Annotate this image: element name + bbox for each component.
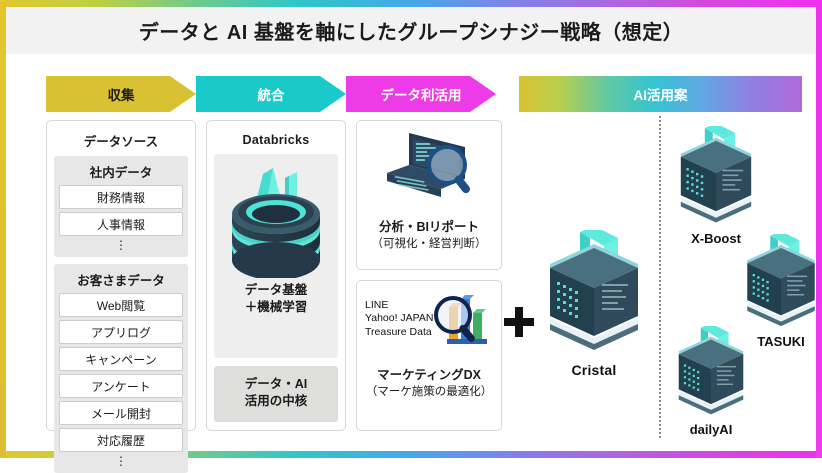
marketing-dx-brands: LINE Yahoo! JAPAN Treasure Data [365, 299, 433, 339]
list-item[interactable]: キャンペーン [59, 347, 183, 371]
cristal-cube-wrap [534, 230, 654, 360]
databricks-caption: データ基盤 ＋機械学習 [245, 282, 308, 316]
data-source-panel: データソース 社内データ 財務情報 人事情報 ⋮ お客さまデータ Web閲覧 ア… [46, 120, 196, 431]
process-step-collect[interactable]: 収集 [46, 76, 196, 112]
ai-cube-icon [667, 326, 755, 422]
process-step-collect-label: 収集 [108, 84, 135, 104]
laptop-magnifier-icon [369, 127, 489, 219]
ai-database-cylinder-icon [223, 160, 329, 278]
top-gradient-border [0, 0, 822, 7]
marketing-dx-top: LINE Yahoo! JAPAN Treasure Data [357, 287, 501, 367]
ai-cube-icon [534, 230, 654, 360]
title-bar: データと AI 基盤を軸にしたグループシナジー戦略（想定） [6, 7, 816, 54]
marketing-dx-subcaption: （マーケ施策の最適化） [366, 385, 493, 401]
databricks-core-line1: データ・AI [214, 376, 338, 393]
list-item[interactable]: アンケート [59, 374, 183, 398]
tasuki-cube-wrap [726, 234, 822, 334]
data-source-title: データソース [54, 131, 188, 150]
brand-line-3: Treasure Data [365, 326, 433, 339]
bi-report-card[interactable]: 分析・BIリポート （可視化・経営判断） [356, 120, 502, 270]
process-step-utilize-label: データ利活用 [381, 84, 462, 104]
data-source-group-customer-title: お客さまデータ [59, 268, 183, 293]
databricks-body: データ基盤 ＋機械学習 [214, 154, 338, 358]
bi-report-subcaption: （可視化・経営判断） [372, 237, 487, 253]
diagram-stage: 収集 統合 データ利活用 AI活用案 データソース 社内データ 財務情報 人事情… [6, 54, 816, 451]
process-step-utilize[interactable]: データ利活用 [346, 76, 496, 112]
page-title: データと AI 基盤を軸にしたグループシナジー戦略（想定） [139, 16, 683, 45]
cristal-block[interactable]: Cristal [534, 230, 654, 390]
list-item[interactable]: 対応履歴 [59, 428, 183, 452]
data-source-group-internal: 社内データ 財務情報 人事情報 ⋮ [54, 156, 188, 257]
marketing-dx-caption: マーケティングDX [377, 367, 481, 384]
more-dots-icon: ⋮ [59, 455, 183, 468]
brand-line-2: Yahoo! JAPAN [365, 312, 433, 325]
magnifier-barchart-icon-wrap [427, 291, 495, 364]
databricks-core-badge: データ・AI 活用の中核 [214, 366, 338, 422]
data-source-group-customer: お客さまデータ Web閲覧 アプリログ キャンペーン アンケート メール開封 対… [54, 264, 188, 473]
ai-usage-band-label: AI活用案 [634, 84, 688, 104]
databricks-caption-line2: ＋機械学習 [245, 299, 308, 316]
databricks-panel: Databricks [206, 120, 346, 431]
databricks-core-line2: 活用の中核 [214, 393, 338, 410]
list-item[interactable]: アプリログ [59, 320, 183, 344]
ai-product-dailyai[interactable]: dailyAI [656, 326, 766, 451]
ai-product-xboost[interactable]: X-Boost [661, 126, 771, 251]
list-item[interactable]: メール開封 [59, 401, 183, 425]
right-gradient-border [816, 0, 822, 458]
ai-usage-band[interactable]: AI活用案 [519, 76, 802, 112]
databricks-title: Databricks [214, 133, 338, 147]
plus-icon [504, 307, 534, 337]
list-item[interactable]: 人事情報 [59, 212, 183, 236]
dailyai-cube-wrap [656, 326, 766, 422]
data-source-group-internal-title: 社内データ [59, 160, 183, 185]
list-item[interactable]: 財務情報 [59, 185, 183, 209]
bi-report-caption: 分析・BIリポート [379, 219, 479, 236]
brand-line-1: LINE [365, 299, 433, 312]
more-dots-icon: ⋮ [59, 239, 183, 252]
databricks-caption-line1: データ基盤 [245, 282, 308, 299]
marketing-dx-card[interactable]: LINE Yahoo! JAPAN Treasure Data [356, 280, 502, 431]
process-step-integrate-label: 統合 [258, 84, 285, 104]
dailyai-label: dailyAI [656, 422, 766, 437]
magnifier-barchart-icon [427, 291, 495, 359]
cristal-label: Cristal [534, 362, 654, 378]
slide-root: データと AI 基盤を軸にしたグループシナジー戦略（想定） 収集 統合 データ利… [0, 0, 822, 458]
process-step-integrate[interactable]: 統合 [196, 76, 346, 112]
ai-cube-icon [668, 126, 764, 231]
ai-cube-icon [735, 234, 822, 334]
list-item[interactable]: Web閲覧 [59, 293, 183, 317]
xboost-cube-wrap [661, 126, 771, 231]
